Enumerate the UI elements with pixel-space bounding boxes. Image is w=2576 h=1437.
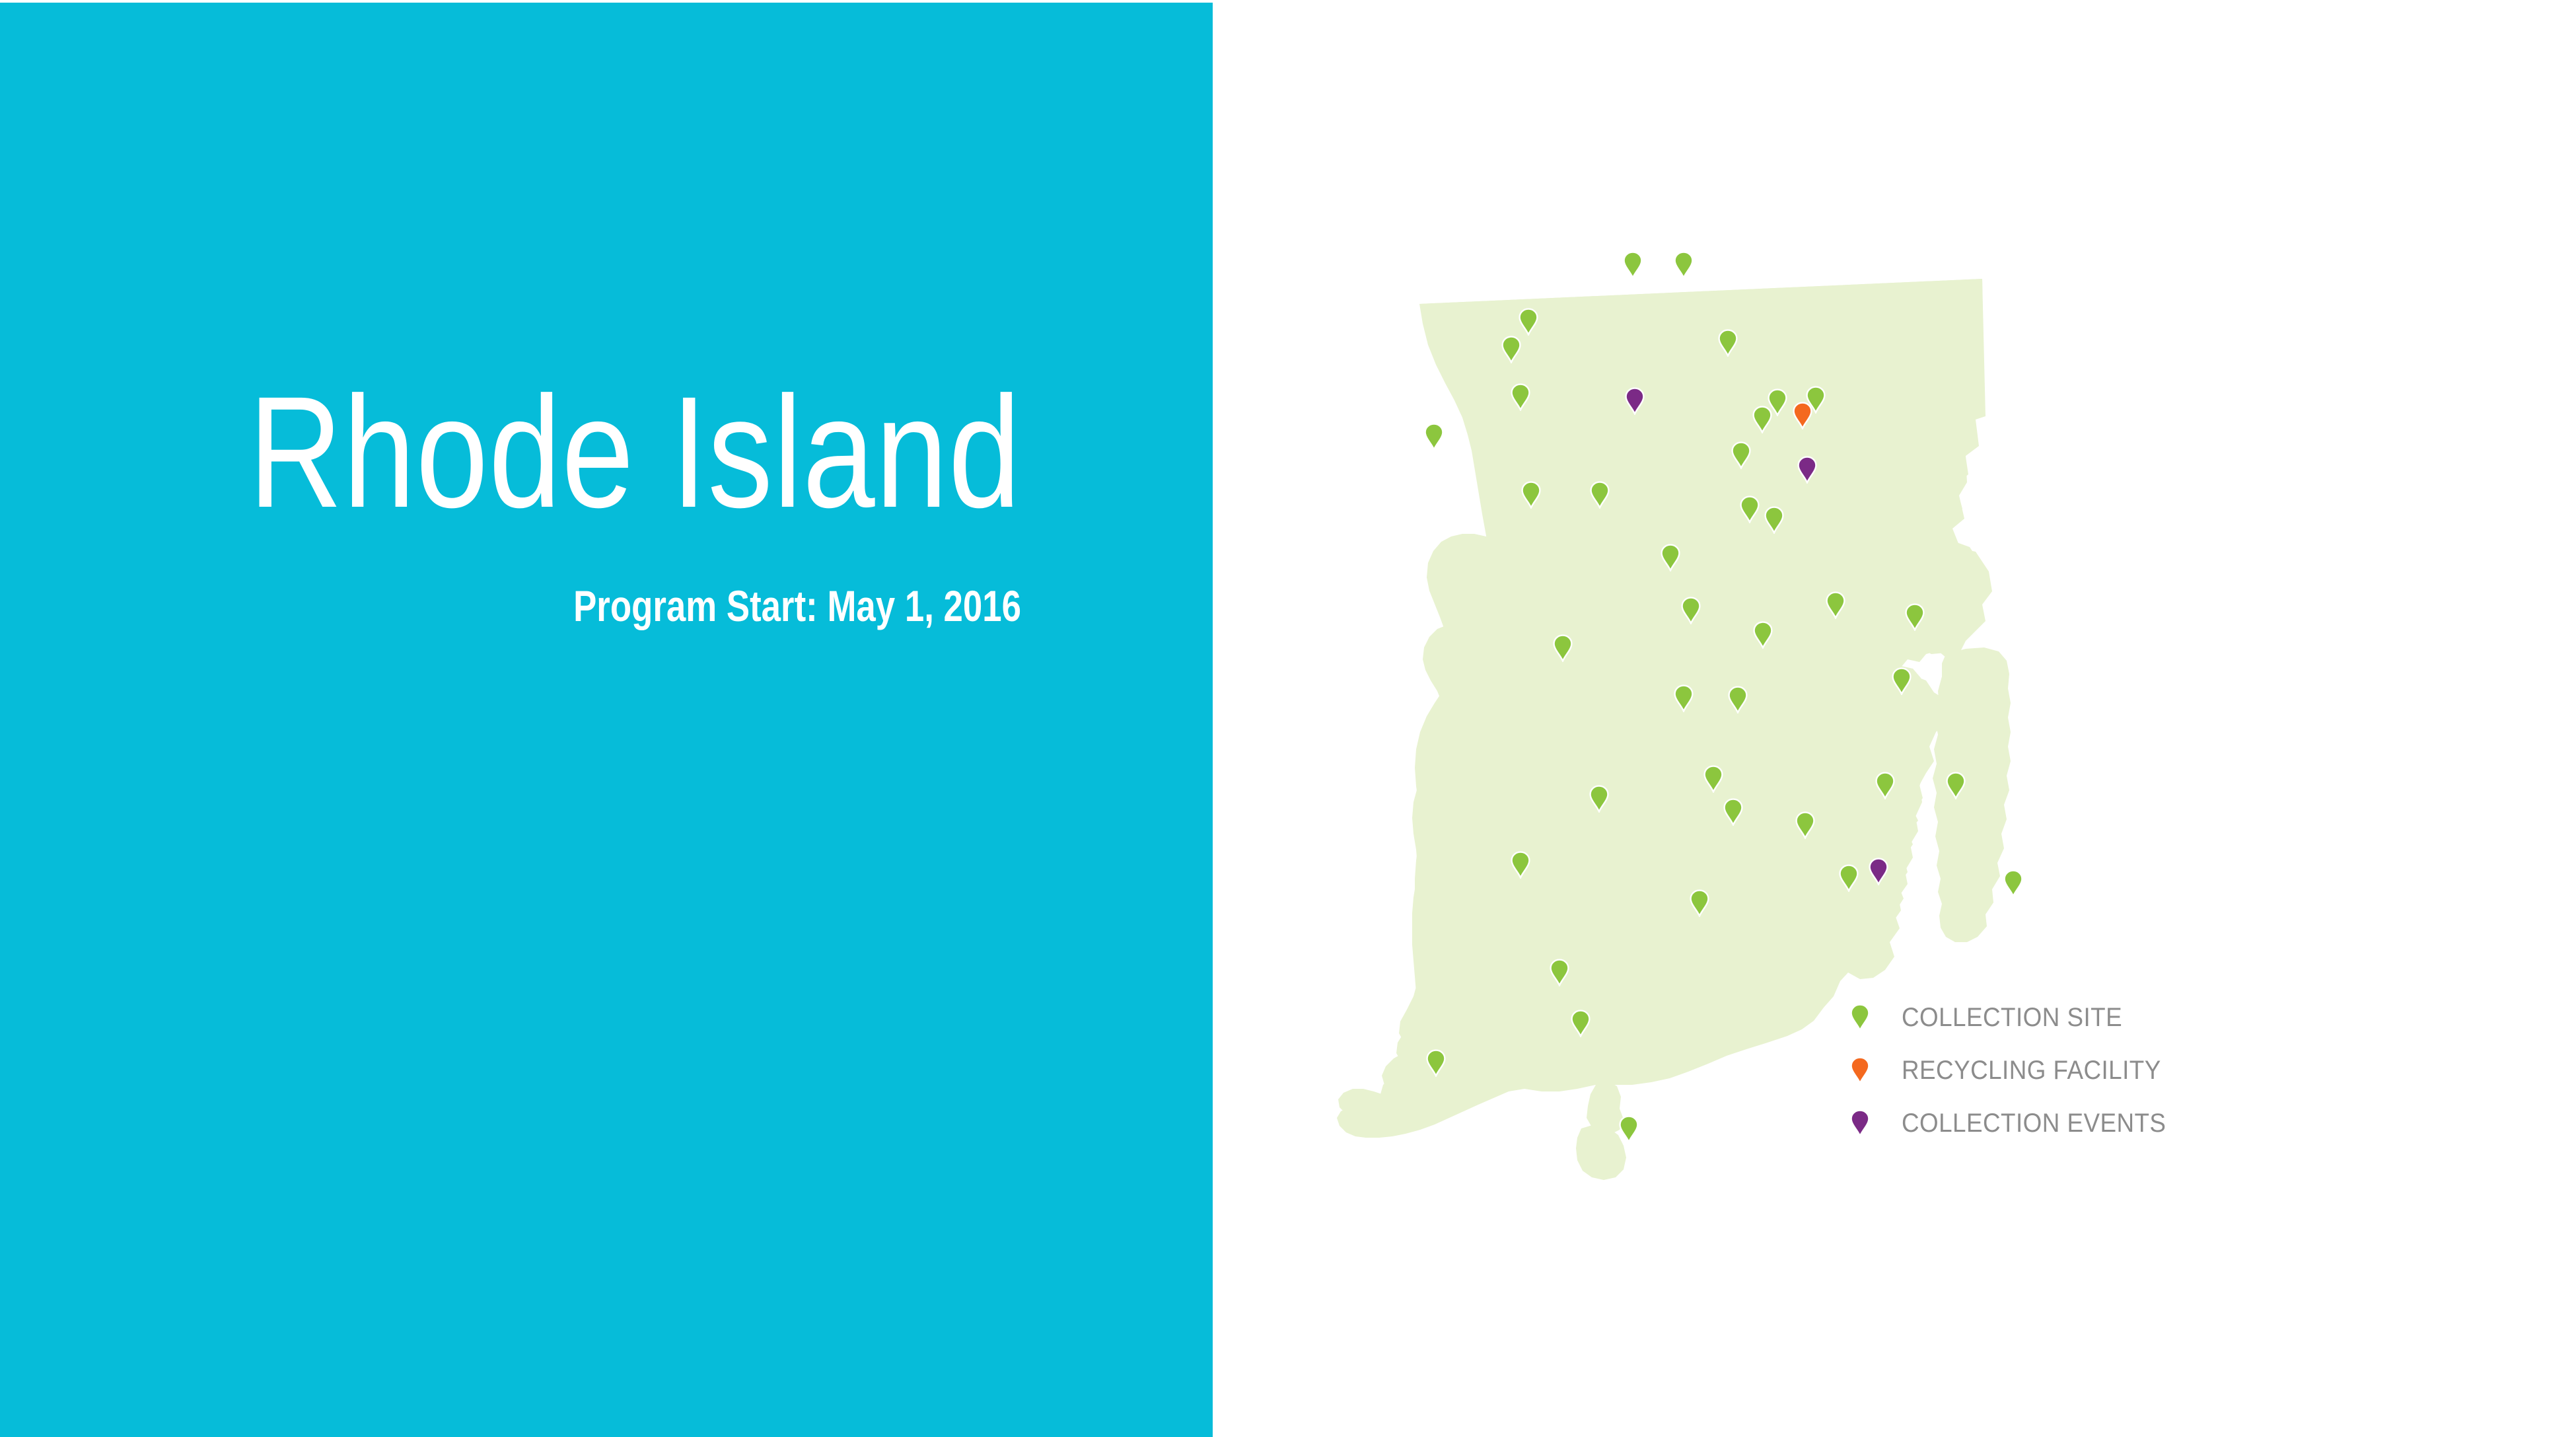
subtitle-date-value: May 1, 2016	[827, 581, 1021, 630]
map-pin-collection-site[interactable]	[1752, 406, 1772, 433]
map-pin-icon	[1850, 1109, 1870, 1137]
legend-row-1[interactable]: RECYCLING FACILITY	[1850, 1044, 2260, 1097]
map-pin-collection-site[interactable]	[1728, 686, 1748, 714]
map-pin-collection-site[interactable]	[1946, 772, 1966, 799]
map-pin-collection-site[interactable]	[1553, 634, 1573, 662]
map-pin-collection-site[interactable]	[1723, 798, 1743, 826]
map-pin-collection-site[interactable]	[1571, 1010, 1591, 1037]
map-pin-collection-events[interactable]	[1869, 858, 1888, 885]
map-pin-collection-events[interactable]	[1625, 387, 1645, 415]
map-pin-collection-site[interactable]	[1731, 441, 1751, 469]
map-pin-collection-site[interactable]	[1703, 765, 1723, 793]
map-pin-collection-site[interactable]	[1905, 603, 1925, 631]
map-pin-collection-site[interactable]	[1501, 336, 1521, 363]
map-pin-collection-site[interactable]	[1674, 684, 1694, 712]
map-pin-collection-site[interactable]	[1718, 329, 1738, 357]
legend-row-0[interactable]: COLLECTION SITE	[1850, 991, 2260, 1044]
legend-label-0: COLLECTION SITE	[1902, 1003, 2122, 1033]
map-pin-collection-site[interactable]	[1795, 811, 1815, 839]
map-pin-collection-site[interactable]	[1511, 851, 1530, 879]
map-pin-collection-site[interactable]	[1690, 889, 1709, 917]
map-pin-collection-site[interactable]	[1589, 785, 1609, 813]
map-pin-collection-site[interactable]	[1661, 544, 1680, 571]
map-pin-collection-site[interactable]	[1521, 481, 1541, 509]
map-pin-collection-site[interactable]	[1511, 383, 1530, 411]
map-pin-collection-site[interactable]	[1674, 251, 1694, 279]
map-pin-collection-site[interactable]	[1875, 772, 1895, 799]
map-pin-collection-site[interactable]	[1681, 597, 1701, 624]
legend-label-2: COLLECTION EVENTS	[1902, 1109, 2166, 1138]
map-pin-collection-site[interactable]	[1826, 591, 1845, 619]
map-pin-collection-site[interactable]	[1839, 864, 1859, 892]
map-pin-collection-site[interactable]	[1892, 667, 1912, 695]
map-pin-collection-events[interactable]	[1797, 456, 1817, 484]
map-area: COLLECTION SITERECYCLING FACILITYCOLLECT…	[1213, 0, 2576, 1437]
map-pin-collection-site[interactable]	[1424, 423, 1444, 451]
subtitle-lead-label: Program Start:	[573, 581, 818, 630]
legend-row-2[interactable]: COLLECTION EVENTS	[1850, 1097, 2260, 1150]
map-pin-collection-site[interactable]	[1623, 251, 1643, 279]
map-pin-recycling-facility[interactable]	[1793, 402, 1812, 429]
legend-label-1: RECYCLING FACILITY	[1902, 1056, 2161, 1086]
map-legend: COLLECTION SITERECYCLING FACILITYCOLLECT…	[1850, 991, 2260, 1150]
map-pin-collection-site[interactable]	[1426, 1049, 1446, 1077]
map-pin-collection-site[interactable]	[1753, 621, 1773, 649]
map-pin-collection-site[interactable]	[2003, 869, 2023, 897]
map-pin-collection-site[interactable]	[1619, 1115, 1639, 1143]
map-pin-collection-site[interactable]	[1740, 496, 1760, 523]
page-title: Rhode Island	[184, 373, 1021, 531]
map-pin-icon	[1850, 1056, 1870, 1084]
map-pin-collection-site[interactable]	[1550, 959, 1569, 986]
program-start-subtitle: Program Start: May 1, 2016	[204, 584, 1021, 628]
map-pin-collection-site[interactable]	[1590, 481, 1610, 509]
map-pin-icon	[1850, 1004, 1870, 1031]
map-pin-collection-site[interactable]	[1764, 506, 1784, 534]
map-pin-collection-site[interactable]	[1519, 308, 1538, 336]
title-panel: Rhode Island Program Start: May 1, 2016	[0, 3, 1213, 1437]
